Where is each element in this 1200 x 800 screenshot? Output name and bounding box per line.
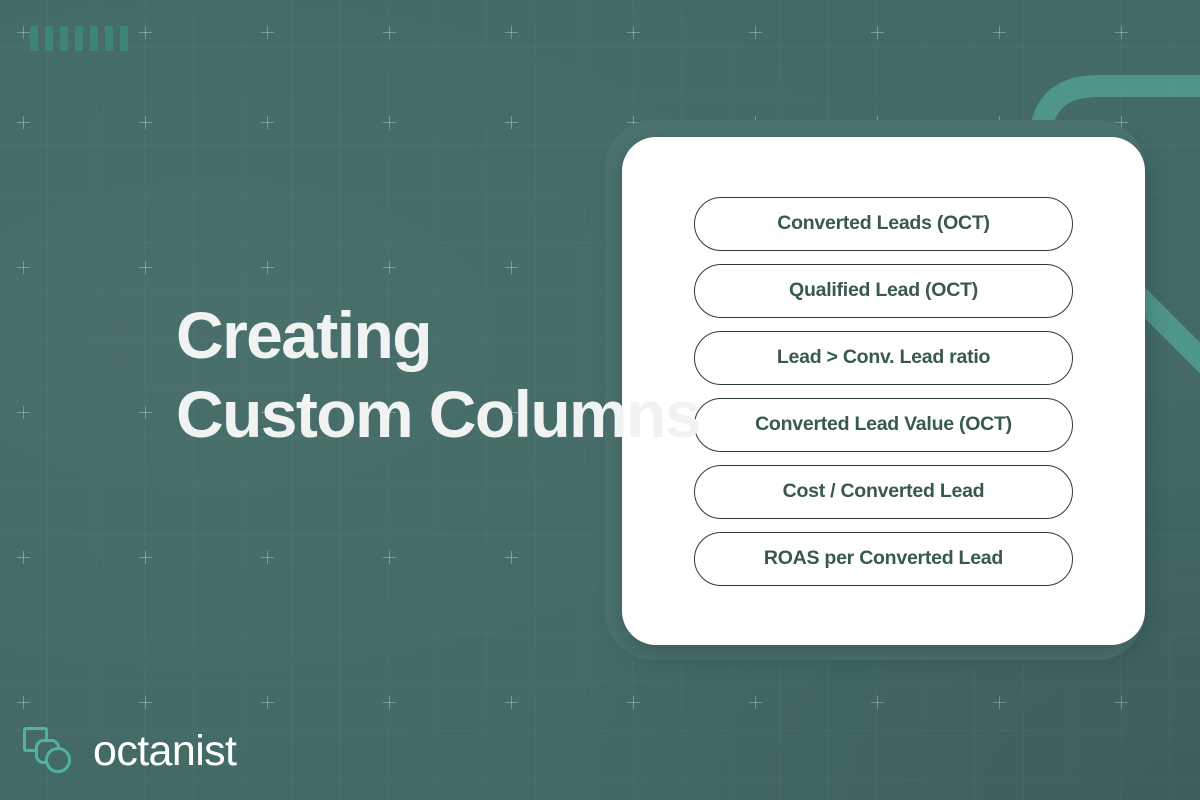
column-pill-label: Qualified Lead (OCT) <box>789 279 978 302</box>
grid-plus-mark <box>139 261 152 274</box>
grid-plus-mark <box>505 26 518 39</box>
column-pill-label: Lead > Conv. Lead ratio <box>777 346 990 369</box>
brand-logo: octanist <box>20 722 236 778</box>
grid-plus-mark <box>383 261 396 274</box>
grid-plus-mark <box>749 26 762 39</box>
grid-plus-mark <box>17 116 30 129</box>
grid-plus-mark <box>383 696 396 709</box>
tally-bars-decoration <box>30 26 128 51</box>
grid-plus-mark <box>383 551 396 564</box>
tally-bar <box>75 26 83 51</box>
grid-plus-mark <box>871 696 884 709</box>
page-title-line-1: Creating <box>176 296 700 375</box>
grid-plus-mark <box>383 26 396 39</box>
grid-plus-mark <box>993 26 1006 39</box>
column-pill-label: Cost / Converted Lead <box>783 480 985 503</box>
grid-plus-mark <box>139 116 152 129</box>
brand-wordmark: octanist <box>93 730 236 773</box>
grid-plus-mark <box>1115 26 1128 39</box>
tally-bar <box>45 26 53 51</box>
tally-bar <box>30 26 38 51</box>
column-pill[interactable]: Qualified Lead (OCT) <box>694 264 1073 318</box>
grid-plus-mark <box>17 406 30 419</box>
grid-plus-mark <box>139 26 152 39</box>
grid-plus-mark <box>139 406 152 419</box>
grid-plus-mark <box>505 551 518 564</box>
column-pill-label: ROAS per Converted Lead <box>764 547 1003 570</box>
grid-plus-mark <box>261 696 274 709</box>
grid-plus-mark <box>17 696 30 709</box>
tally-bar <box>90 26 98 51</box>
tally-bar <box>120 26 128 51</box>
column-pill-label: Converted Leads (OCT) <box>777 212 990 235</box>
grid-plus-mark <box>993 696 1006 709</box>
custom-columns-card: Converted Leads (OCT)Qualified Lead (OCT… <box>622 137 1145 645</box>
grid-plus-mark <box>261 261 274 274</box>
page-title: Creating Custom Columns <box>176 296 700 454</box>
grid-plus-mark <box>17 261 30 274</box>
tally-bar <box>60 26 68 51</box>
column-pill-label: Converted Lead Value (OCT) <box>755 413 1012 436</box>
column-pill[interactable]: Converted Leads (OCT) <box>694 197 1073 251</box>
grid-plus-mark <box>505 696 518 709</box>
grid-plus-mark <box>505 261 518 274</box>
grid-plus-mark <box>383 116 396 129</box>
column-pill[interactable]: Converted Lead Value (OCT) <box>694 398 1073 452</box>
grid-plus-mark <box>627 696 640 709</box>
grid-plus-mark <box>261 116 274 129</box>
slide-root: Creating Custom Columns Converted Leads … <box>0 0 1200 800</box>
grid-plus-mark <box>749 696 762 709</box>
octanist-shapes-icon <box>20 722 76 778</box>
grid-plus-mark <box>261 26 274 39</box>
column-pill[interactable]: ROAS per Converted Lead <box>694 532 1073 586</box>
grid-plus-mark <box>1115 696 1128 709</box>
grid-plus-mark <box>17 551 30 564</box>
tally-bar <box>105 26 113 51</box>
grid-plus-mark <box>261 551 274 564</box>
grid-plus-mark <box>505 116 518 129</box>
grid-plus-mark <box>139 696 152 709</box>
grid-plus-mark <box>871 26 884 39</box>
page-title-line-2: Custom Columns <box>176 375 700 454</box>
grid-plus-mark <box>139 551 152 564</box>
column-pill[interactable]: Cost / Converted Lead <box>694 465 1073 519</box>
grid-plus-mark <box>17 26 30 39</box>
column-pill[interactable]: Lead > Conv. Lead ratio <box>694 331 1073 385</box>
grid-plus-mark <box>627 26 640 39</box>
